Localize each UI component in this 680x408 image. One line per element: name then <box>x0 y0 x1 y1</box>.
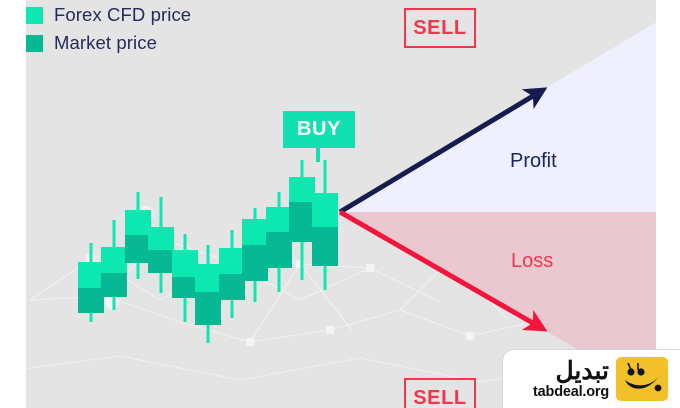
profit-label: Profit <box>510 150 557 173</box>
arrow-layer <box>0 0 680 408</box>
sell-badge-label: SELL <box>413 17 467 40</box>
logo-name-fa: تبدیل <box>517 358 609 384</box>
legend: Forex CFD price Market price <box>26 2 326 58</box>
square-swatch-icon <box>26 7 43 24</box>
screenshot-root: Forex CFD price Market price SELL SELL B… <box>0 0 680 408</box>
buy-badge-label: BUY <box>297 118 341 141</box>
sell-badge-label: SELL <box>413 387 467 408</box>
smiley-face-icon <box>616 357 668 401</box>
logo-text: تبدیل tabdeal.org <box>503 358 616 400</box>
sell-badge-bottom[interactable]: SELL <box>404 378 476 408</box>
square-swatch-icon <box>26 35 43 52</box>
legend-item-label: Market price <box>54 32 157 54</box>
profit-up-arrow <box>340 93 538 212</box>
loss-label: Loss <box>511 250 553 273</box>
logo-name-en: tabdeal.org <box>517 385 609 400</box>
legend-item-market-price: Market price <box>26 30 326 56</box>
legend-item-forex-cfd-price: Forex CFD price <box>26 2 326 28</box>
loss-down-arrow <box>340 212 538 326</box>
sell-badge-top[interactable]: SELL <box>404 8 476 48</box>
legend-item-label: Forex CFD price <box>54 4 191 26</box>
buy-badge-stem <box>316 148 320 162</box>
tabdeal-logo[interactable]: تبدیل tabdeal.org <box>503 350 680 408</box>
buy-badge[interactable]: BUY <box>283 111 355 148</box>
